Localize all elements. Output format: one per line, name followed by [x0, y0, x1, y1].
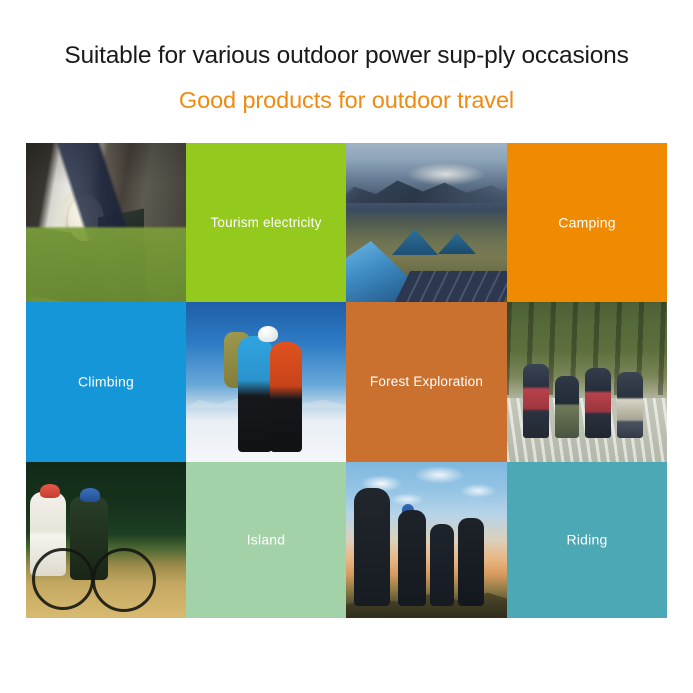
grid-cell-island[interactable]: Island	[186, 462, 346, 618]
page-title: Suitable for various outdoor power sup-p…	[0, 0, 693, 69]
climber-shape	[238, 336, 272, 452]
backpacker-shape	[398, 510, 426, 606]
climber-shape	[270, 342, 302, 452]
grid-cell-photo-backpackers-sunset	[346, 462, 507, 618]
backpacker-shape	[354, 488, 390, 606]
backpacker-shape	[458, 518, 484, 606]
helmet-shape	[258, 326, 278, 342]
backpacker-shape	[430, 524, 454, 606]
grid-cell-tourism-electricity[interactable]: Tourism electricity	[186, 143, 346, 302]
page-subtitle: Good products for outdoor travel	[0, 69, 693, 113]
bike-helmet-shape	[40, 484, 60, 498]
grid-cell-forest-exploration[interactable]: Forest Exploration	[346, 302, 507, 462]
bicycle-wheel-shape	[92, 548, 156, 612]
bike-helmet-shape	[80, 488, 100, 502]
grid-cell-label-island: Island	[186, 532, 346, 549]
bicycle-wheel-shape	[32, 548, 94, 610]
headings-block: Suitable for various outdoor power sup-p…	[0, 0, 693, 112]
grid-cell-label-climbing: Climbing	[26, 374, 186, 391]
grid-cell-riding[interactable]: Riding	[507, 462, 667, 618]
tent-shape	[438, 233, 476, 254]
hiker-shape	[555, 376, 579, 438]
grid-cell-label-camping: Camping	[507, 214, 667, 231]
grid-cell-camping[interactable]: Camping	[507, 143, 667, 302]
hiker-shape	[617, 372, 643, 438]
grid-cell-photo-rv-dog-laptop	[26, 143, 186, 302]
grid-cell-label-riding: Riding	[507, 532, 667, 549]
tent-shape	[392, 229, 438, 255]
grid-cell-label-forest-exploration: Forest Exploration	[346, 374, 507, 390]
usage-scenario-grid: Tourism electricity Camping Climbing For…	[26, 143, 667, 618]
solar-panel-shape	[394, 271, 507, 302]
grid-cell-label-tourism-electricity: Tourism electricity	[186, 214, 346, 230]
grid-cell-climbing[interactable]: Climbing	[26, 302, 186, 462]
grid-cell-photo-mountaineers	[186, 302, 346, 462]
solar-mat-shape	[26, 225, 146, 302]
grid-cell-photo-cyclists	[26, 462, 186, 618]
dog-shape	[68, 195, 104, 241]
grid-cell-photo-river-crossing	[507, 302, 667, 462]
grid-cell-photo-camping-tents	[346, 143, 507, 302]
hiker-shape	[585, 368, 611, 438]
hiker-shape	[523, 364, 549, 438]
laptop-shape	[98, 209, 144, 252]
